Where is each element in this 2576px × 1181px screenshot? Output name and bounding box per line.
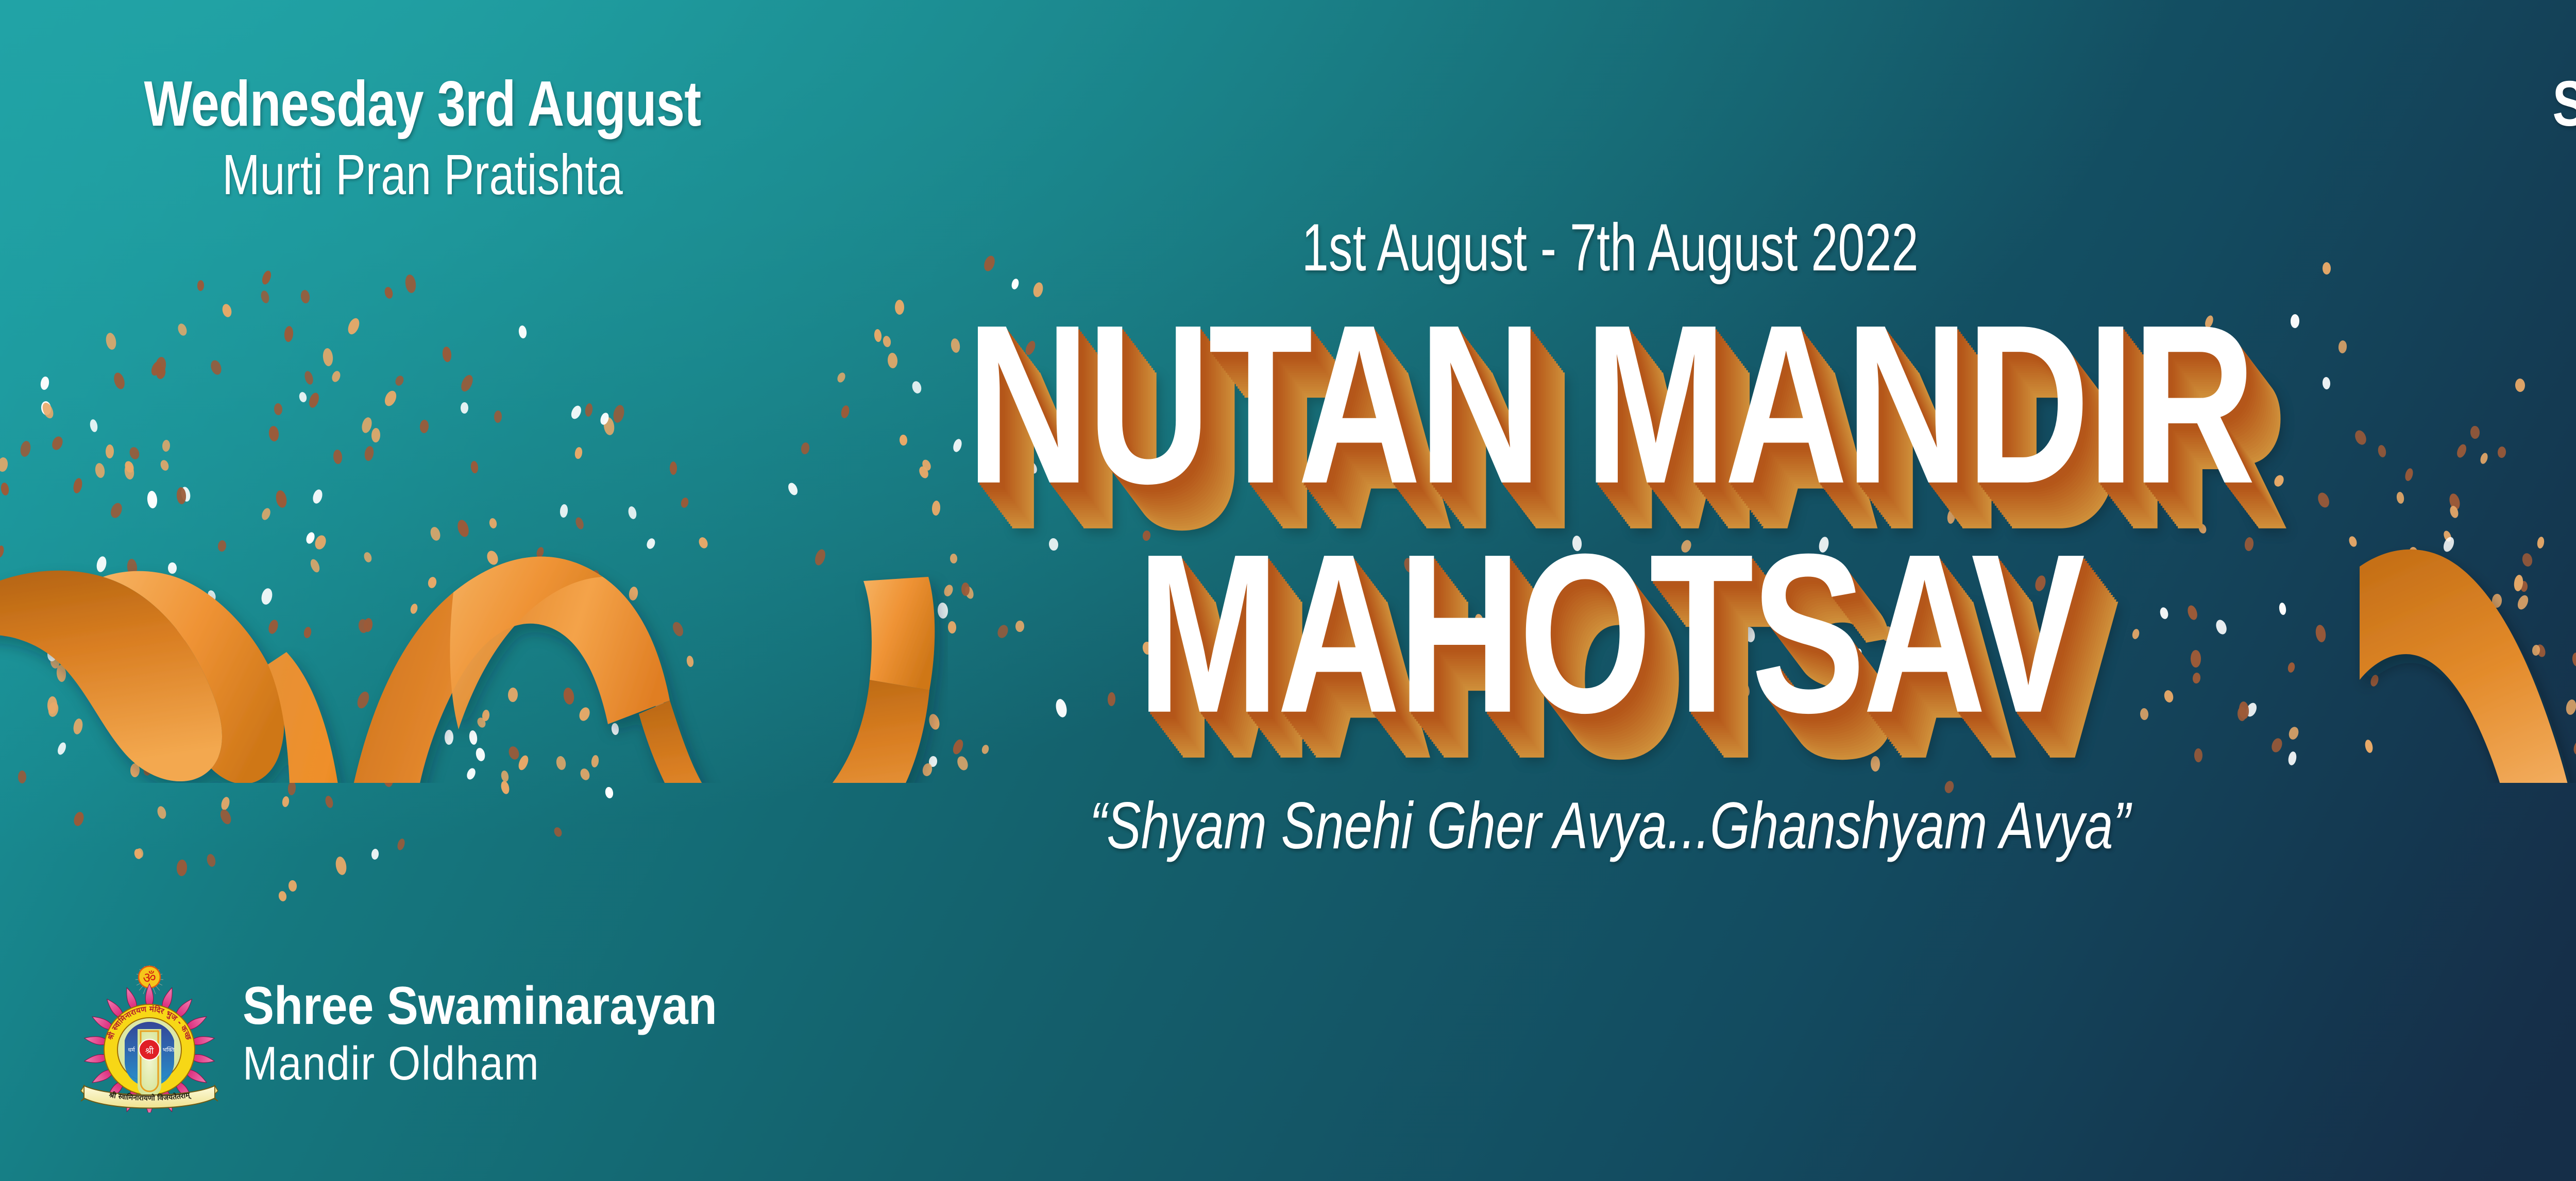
left-event-day: Wednesday 3rd August xyxy=(84,72,760,136)
event-title-line-2-text: MAHOTSAV xyxy=(1137,520,2082,747)
confetti-dot xyxy=(278,891,287,902)
confetti-dot xyxy=(500,770,510,783)
confetti-dot xyxy=(384,286,394,299)
right-event-day: Saturday 6th August xyxy=(2464,72,2576,136)
confetti-dot xyxy=(955,755,969,772)
confetti-dot xyxy=(922,762,933,777)
confetti-dot xyxy=(517,754,530,772)
confetti-dot xyxy=(142,762,153,777)
confetti-dot xyxy=(56,742,67,756)
confetti-dot xyxy=(2270,737,2284,754)
confetti-dot xyxy=(951,738,965,756)
confetti-dot xyxy=(260,507,272,521)
confetti-dot xyxy=(2194,748,2202,762)
confetti-dot xyxy=(579,767,591,782)
event-tagline-text: “Shyam Snehi Gher Avya...Ghanshyam Avya” xyxy=(1090,788,2130,864)
confetti-dot xyxy=(466,767,478,781)
confetti-dot xyxy=(2572,739,2576,756)
swaminarayan-emblem-icon: ॐ xyxy=(80,963,219,1112)
confetti-dot xyxy=(590,755,599,768)
confetti-dot xyxy=(2287,751,2297,766)
confetti-dot xyxy=(928,756,938,767)
confetti-dot xyxy=(981,744,990,755)
confetti-dot xyxy=(488,518,497,529)
confetti-dot xyxy=(171,750,182,764)
left-event-block: Wednesday 3rd August Murti Pran Pratisht… xyxy=(0,72,845,205)
mandir-name: Shree Swaminarayan xyxy=(243,979,717,1033)
confetti-dot xyxy=(2364,739,2374,754)
confetti-dot xyxy=(209,752,221,769)
event-title-line-1-text: NUTAN MANDIR xyxy=(967,291,2253,518)
event-title-line-2: MAHOTSAV xyxy=(0,530,2576,737)
confetti-dot xyxy=(130,763,140,778)
emblem-dharma-glyph: धर्म xyxy=(128,1047,135,1053)
confetti-dot xyxy=(243,773,250,783)
event-date-range-text: 1st August - 7th August 2022 xyxy=(1302,209,1919,286)
confetti-dot xyxy=(507,745,520,761)
emblem-bhakti-glyph: भक्ति xyxy=(163,1047,175,1053)
confetti-dot xyxy=(382,770,394,788)
confetti-dot xyxy=(287,757,297,769)
emblem-shree-glyph: श्री xyxy=(145,1046,154,1056)
confetti-dot xyxy=(288,880,297,892)
mandir-place: Mandir Oldham xyxy=(243,1039,717,1089)
event-date-range: 1st August - 7th August 2022 xyxy=(0,209,2576,286)
mandir-logo-lockup: ॐ xyxy=(80,963,782,1112)
confetti-dot xyxy=(18,771,26,783)
confetti-dot xyxy=(291,744,300,759)
confetti-dot xyxy=(474,747,486,762)
confetti-dot xyxy=(627,506,637,520)
event-tagline: “Shyam Snehi Gher Avya...Ghanshyam Avya” xyxy=(0,788,2576,864)
confetti-dot xyxy=(574,516,585,530)
event-title-line-1: NUTAN MANDIR xyxy=(0,301,2576,507)
right-event-block: Saturday 6th August Nagar Yatra xyxy=(2380,72,2576,205)
confetti-dot xyxy=(555,755,567,770)
event-banner: Wednesday 3rd August Murti Pran Pratisht… xyxy=(0,0,2576,1181)
right-event-name: Nagar Yatra xyxy=(2464,145,2576,205)
left-event-name: Murti Pran Pratishta xyxy=(84,145,760,205)
mandir-text-group: Shree Swaminarayan Mandir Oldham xyxy=(243,979,782,1097)
